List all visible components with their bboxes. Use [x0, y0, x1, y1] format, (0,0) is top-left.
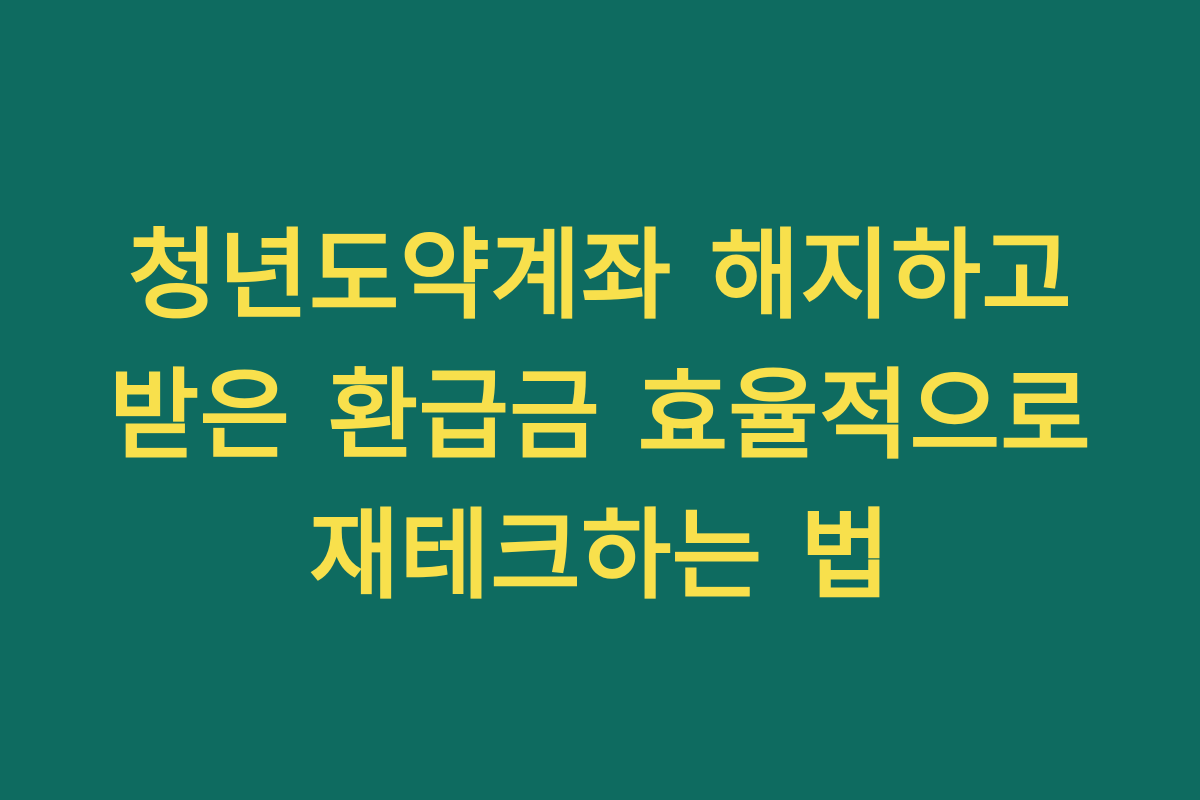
headline-line-2: 받은 환급금 효율적으로: [0, 345, 1200, 485]
headline-text-block: 청년도약계좌 해지하고 받은 환급금 효율적으로 재테크하는 법: [0, 205, 1200, 625]
thumbnail-canvas: 청년도약계좌 해지하고 받은 환급금 효율적으로 재테크하는 법: [0, 0, 1200, 800]
headline-line-1: 청년도약계좌 해지하고: [0, 205, 1200, 345]
headline-line-3: 재테크하는 법: [0, 485, 1200, 625]
